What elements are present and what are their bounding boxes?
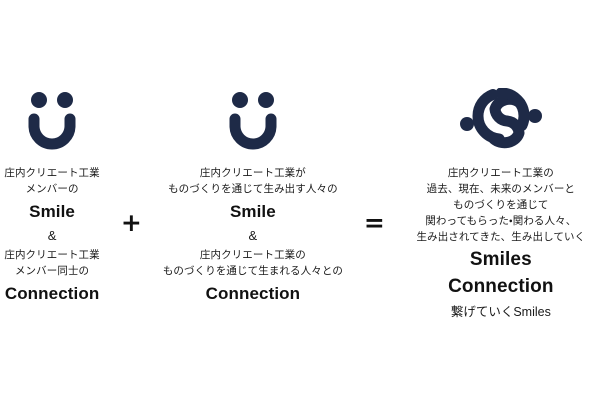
term-keyword: Connection xyxy=(5,281,100,307)
equation-term-members: 庄内クリエート工業 メンバーの Smile & 庄内クリエート工業 メンバー同士… xyxy=(0,88,104,308)
equation-term-result: 庄内クリエート工業の 過去、現在、未来のメンバーと ものづくりを通じて 関わって… xyxy=(402,88,600,322)
term-line: 庄内クリエート工業が xyxy=(200,166,306,182)
term-text-block: 庄内クリエート工業の 過去、現在、未来のメンバーと ものづくりを通じて 関わって… xyxy=(417,166,586,322)
term-line: 過去、現在、未来のメンバーと xyxy=(427,182,575,198)
s-dots-logo-icon xyxy=(458,88,544,150)
term-keyword: Smiles xyxy=(470,246,532,274)
term-line: ものづくりを通じて生まれる人々との xyxy=(163,264,343,280)
term-tagline: 繋げていくSmiles xyxy=(451,302,551,322)
term-line: メンバーの xyxy=(26,182,79,198)
term-keyword: Smile xyxy=(29,199,75,225)
term-keyword: Connection xyxy=(448,273,554,301)
smiles-connection-diagram: 庄内クリエート工業 メンバーの Smile & 庄内クリエート工業 メンバー同士… xyxy=(0,0,600,400)
operator-equals: = xyxy=(347,88,402,235)
term-line: 庄内クリエート工業の xyxy=(448,166,554,182)
operator-plus: + xyxy=(104,88,159,235)
term-keyword: Connection xyxy=(206,281,301,307)
u-face-logo-icon xyxy=(222,88,284,150)
term-line: 庄内クリエート工業 xyxy=(4,248,99,264)
equation-term-monozukuri: 庄内クリエート工業が ものづくりを通じて生み出す人々の Smile & 庄内クリ… xyxy=(159,88,347,308)
term-text-block: 庄内クリエート工業が ものづくりを通じて生み出す人々の Smile & 庄内クリ… xyxy=(163,166,343,308)
term-line: 庄内クリエート工業 xyxy=(4,166,99,182)
term-keyword: Smile xyxy=(230,199,276,225)
term-line: 庄内クリエート工業の xyxy=(200,248,306,264)
term-ampersand: & xyxy=(48,225,57,248)
term-line: メンバー同士の xyxy=(15,264,89,280)
term-text-block: 庄内クリエート工業 メンバーの Smile & 庄内クリエート工業 メンバー同士… xyxy=(4,166,99,308)
term-line: 生み出されてきた、生み出していく xyxy=(417,230,586,246)
term-line: ものづくりを通じて xyxy=(453,198,548,214)
term-line: 関わってもらった・関わる人々、 xyxy=(425,214,576,230)
term-line: ものづくりを通じて生み出す人々の xyxy=(168,182,338,198)
u-face-logo-icon xyxy=(21,88,83,150)
term-ampersand: & xyxy=(249,225,258,248)
